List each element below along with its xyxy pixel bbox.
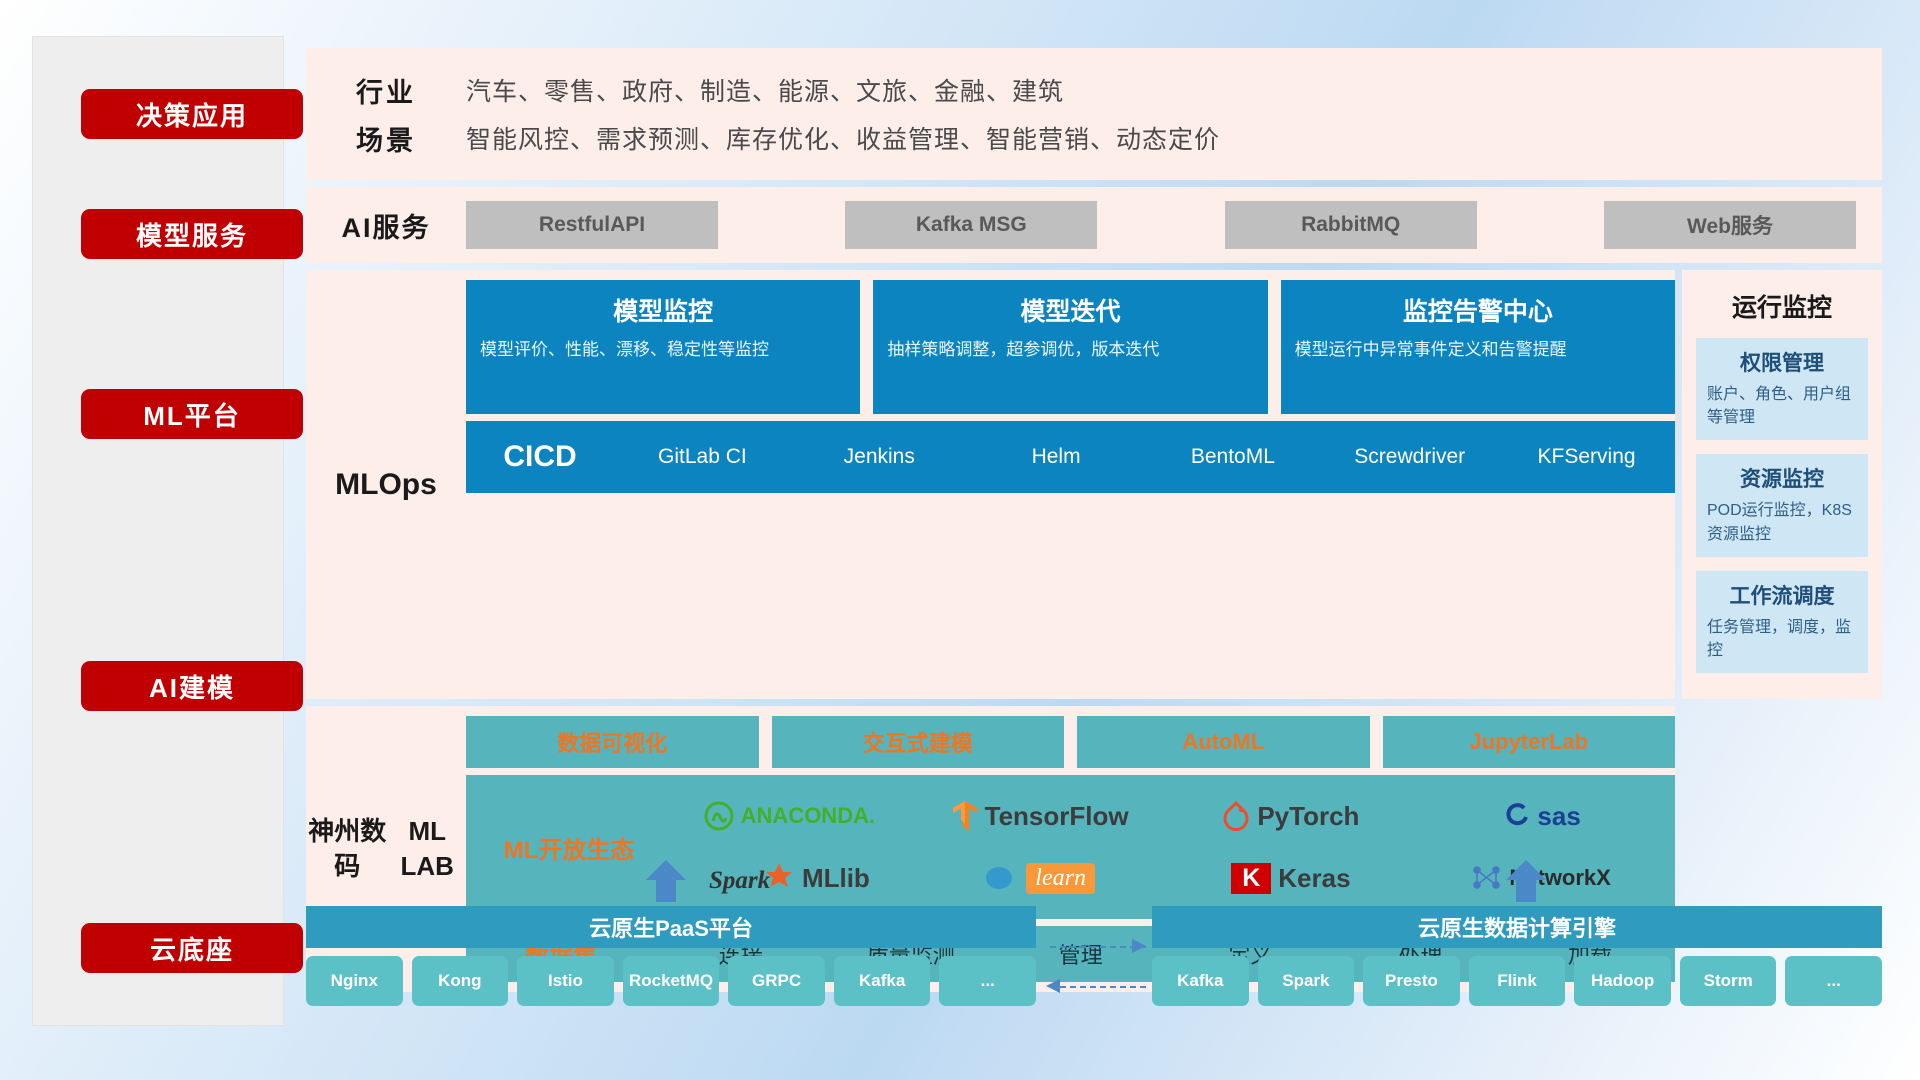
tool-data-visualization[interactable]: 数据可视化 — [466, 716, 759, 768]
stage-ai-modeling[interactable]: AI建模 — [81, 661, 303, 711]
tool-interactive-modeling[interactable]: 交互式建模 — [772, 716, 1065, 768]
paas-column: 云原生PaaS平台 Nginx Kong Istio RocketMQ GRPC… — [306, 906, 1036, 1006]
compute-column: 云原生数据计算引擎 Kafka Spark Presto Flink Hadoo… — [1152, 906, 1882, 1006]
anaconda-logo: ANACONDA. — [664, 801, 915, 831]
scenario-label: 场景 — [306, 119, 466, 158]
box-title: 资源监控 — [1707, 463, 1857, 493]
cicd-tool-bentoml[interactable]: BentoML — [1144, 446, 1321, 468]
anaconda-label: ANACONDA. — [741, 803, 875, 829]
compute-tags: Kafka Spark Presto Flink Hadoop Storm ..… — [1152, 956, 1882, 1006]
stage-decision-application[interactable]: 决策应用 — [81, 89, 303, 139]
card-title: 模型监控 — [480, 292, 846, 328]
compute-tag-presto[interactable]: Presto — [1363, 956, 1460, 1006]
dashed-arrow-left — [1046, 978, 1064, 996]
runtime-monitoring-column: 运行监控 权限管理 账户、角色、用户组等管理 资源监控 POD运行监控，K8S资… — [1682, 270, 1882, 699]
monitoring-box-resource[interactable]: 资源监控 POD运行监控，K8S资源监控 — [1696, 454, 1868, 556]
scenario-row: 场景 智能风控、需求预测、库存优化、收益管理、智能营销、动态定价 — [306, 114, 1882, 162]
pytorch-label: PyTorch — [1257, 801, 1359, 832]
mlops-label: MLOps — [306, 280, 466, 689]
paas-tag-kafka[interactable]: Kafka — [834, 956, 931, 1006]
paas-tag-more[interactable]: ... — [939, 956, 1036, 1006]
sas-glyph — [1502, 802, 1530, 830]
cicd-tool-helm[interactable]: Helm — [968, 446, 1145, 468]
application-band: 行业 汽车、零售、政府、制造、能源、文旅、金融、建筑 场景 智能风控、需求预测、… — [306, 48, 1882, 180]
compute-tag-more[interactable]: ... — [1785, 956, 1882, 1006]
monitoring-box-permission[interactable]: 权限管理 账户、角色、用户组等管理 — [1696, 338, 1868, 440]
cloud-foundation-zone: 云原生PaaS平台 Nginx Kong Istio RocketMQ GRPC… — [306, 860, 1882, 1060]
compute-tag-storm[interactable]: Storm — [1680, 956, 1777, 1006]
mlops-card-model-monitoring[interactable]: 模型监控 模型评价、性能、漂移、稳定性等监控 — [466, 280, 860, 414]
ai-service-label: AI服务 — [306, 206, 466, 245]
paas-tag-grpc[interactable]: GRPC — [728, 956, 825, 1006]
ml-platform-row: MLOps 模型监控 模型评价、性能、漂移、稳定性等监控 模型迭代 抽样策略调整… — [306, 270, 1882, 699]
cicd-label: CICD — [466, 440, 614, 474]
pytorch-glyph — [1222, 801, 1250, 831]
cicd-tool-screwdriver[interactable]: Screwdriver — [1321, 446, 1498, 468]
box-title: 权限管理 — [1707, 347, 1857, 377]
stage-label: ML平台 — [143, 396, 241, 433]
compute-tag-hadoop[interactable]: Hadoop — [1574, 956, 1671, 1006]
cicd-tool-kfserving[interactable]: KFServing — [1498, 446, 1675, 468]
stage-label: 决策应用 — [136, 96, 248, 133]
industry-value: 汽车、零售、政府、制造、能源、文旅、金融、建筑 — [466, 72, 1064, 108]
box-desc: POD运行监控，K8S资源监控 — [1707, 499, 1857, 545]
stage-label: AI建模 — [149, 668, 235, 705]
mlops-card-alert-center[interactable]: 监控告警中心 模型运行中异常事件定义和告警提醒 — [1281, 280, 1675, 414]
card-desc: 抽样策略调整，超参调优，版本迭代 — [887, 338, 1253, 363]
scenario-value: 智能风控、需求预测、库存优化、收益管理、智能营销、动态定价 — [466, 120, 1220, 156]
compute-tag-kafka[interactable]: Kafka — [1152, 956, 1249, 1006]
compute-tag-flink[interactable]: Flink — [1469, 956, 1566, 1006]
paas-tags: Nginx Kong Istio RocketMQ GRPC Kafka ... — [306, 956, 1036, 1006]
stage-rail: 决策应用 模型服务 ML平台 AI建模 云底座 — [32, 36, 284, 1026]
box-title: 工作流调度 — [1707, 580, 1857, 610]
tensorflow-glyph — [952, 800, 978, 832]
mlops-body: 模型监控 模型评价、性能、漂移、稳定性等监控 模型迭代 抽样策略调整，超参调优，… — [466, 280, 1675, 689]
monitoring-box-workflow[interactable]: 工作流调度 任务管理，调度，监控 — [1696, 571, 1868, 673]
ml-lab-tools: 数据可视化 交互式建模 AutoML JupyterLab — [466, 716, 1675, 768]
industry-row: 行业 汽车、零售、政府、制造、能源、文旅、金融、建筑 — [306, 66, 1882, 114]
card-title: 模型迭代 — [887, 292, 1253, 328]
ai-service-band: AI服务 RestfulAPI Kafka MSG RabbitMQ Web服务 — [306, 187, 1882, 263]
industry-label: 行业 — [306, 71, 466, 110]
paas-tag-nginx[interactable]: Nginx — [306, 956, 403, 1006]
mlops-card-model-iteration[interactable]: 模型迭代 抽样策略调整，超参调优，版本迭代 — [873, 280, 1267, 414]
tool-jupyterlab[interactable]: JupyterLab — [1383, 716, 1676, 768]
paas-title: 云原生PaaS平台 — [306, 906, 1036, 948]
anaconda-glyph — [704, 801, 734, 831]
dashed-arrow-right — [1132, 938, 1150, 956]
box-desc: 账户、角色、用户组等管理 — [1707, 383, 1857, 429]
ai-service-chip-restfulapi[interactable]: RestfulAPI — [466, 201, 718, 249]
cicd-bar: CICD GitLab CI Jenkins Helm BentoML Scre… — [466, 421, 1675, 493]
paas-tag-rocketmq[interactable]: RocketMQ — [623, 956, 720, 1006]
compute-tag-spark[interactable]: Spark — [1258, 956, 1355, 1006]
paas-tag-kong[interactable]: Kong — [412, 956, 509, 1006]
tensorflow-logo: TensorFlow — [915, 800, 1166, 832]
pytorch-logo: PyTorch — [1166, 801, 1417, 832]
box-desc: 任务管理，调度，监控 — [1707, 616, 1857, 662]
mlops-cards: 模型监控 模型评价、性能、漂移、稳定性等监控 模型迭代 抽样策略调整，超参调优，… — [466, 280, 1675, 414]
stage-model-service[interactable]: 模型服务 — [81, 209, 303, 259]
tool-automl[interactable]: AutoML — [1077, 716, 1370, 768]
main-column: 行业 汽车、零售、政府、制造、能源、文旅、金融、建筑 场景 智能风控、需求预测、… — [306, 48, 1882, 992]
runtime-monitoring-title: 运行监控 — [1696, 288, 1868, 324]
architecture-diagram: 决策应用 模型服务 ML平台 AI建模 云底座 行业 汽车、零售、政府、制造、能… — [0, 0, 1920, 1080]
ai-service-chip-web-service[interactable]: Web服务 — [1604, 201, 1856, 249]
card-desc: 模型评价、性能、漂移、稳定性等监控 — [480, 338, 846, 363]
ai-service-chips: RestfulAPI Kafka MSG RabbitMQ Web服务 — [466, 201, 1856, 249]
dashed-connector-bottom — [1050, 986, 1146, 988]
card-desc: 模型运行中异常事件定义和告警提醒 — [1295, 338, 1661, 363]
stage-ml-platform[interactable]: ML平台 — [81, 389, 303, 439]
cicd-tool-gitlab-ci[interactable]: GitLab CI — [614, 446, 791, 468]
paas-tag-istio[interactable]: Istio — [517, 956, 614, 1006]
arrow-up-compute — [1506, 860, 1546, 904]
mlops-band: MLOps 模型监控 模型评价、性能、漂移、稳定性等监控 模型迭代 抽样策略调整… — [306, 270, 1675, 699]
cicd-tool-jenkins[interactable]: Jenkins — [791, 446, 968, 468]
tensorflow-label: TensorFlow — [985, 801, 1129, 832]
ai-service-chip-rabbitmq[interactable]: RabbitMQ — [1225, 201, 1477, 249]
stage-cloud-foundation[interactable]: 云底座 — [81, 923, 303, 973]
compute-title: 云原生数据计算引擎 — [1152, 906, 1882, 948]
card-title: 监控告警中心 — [1295, 292, 1661, 328]
arrow-up-paas — [646, 860, 686, 904]
ai-service-chip-kafka-msg[interactable]: Kafka MSG — [845, 201, 1097, 249]
stage-label: 模型服务 — [136, 216, 248, 253]
sas-logo: sas — [1416, 801, 1667, 832]
stage-label: 云底座 — [150, 930, 234, 967]
sas-label: sas — [1537, 801, 1580, 832]
